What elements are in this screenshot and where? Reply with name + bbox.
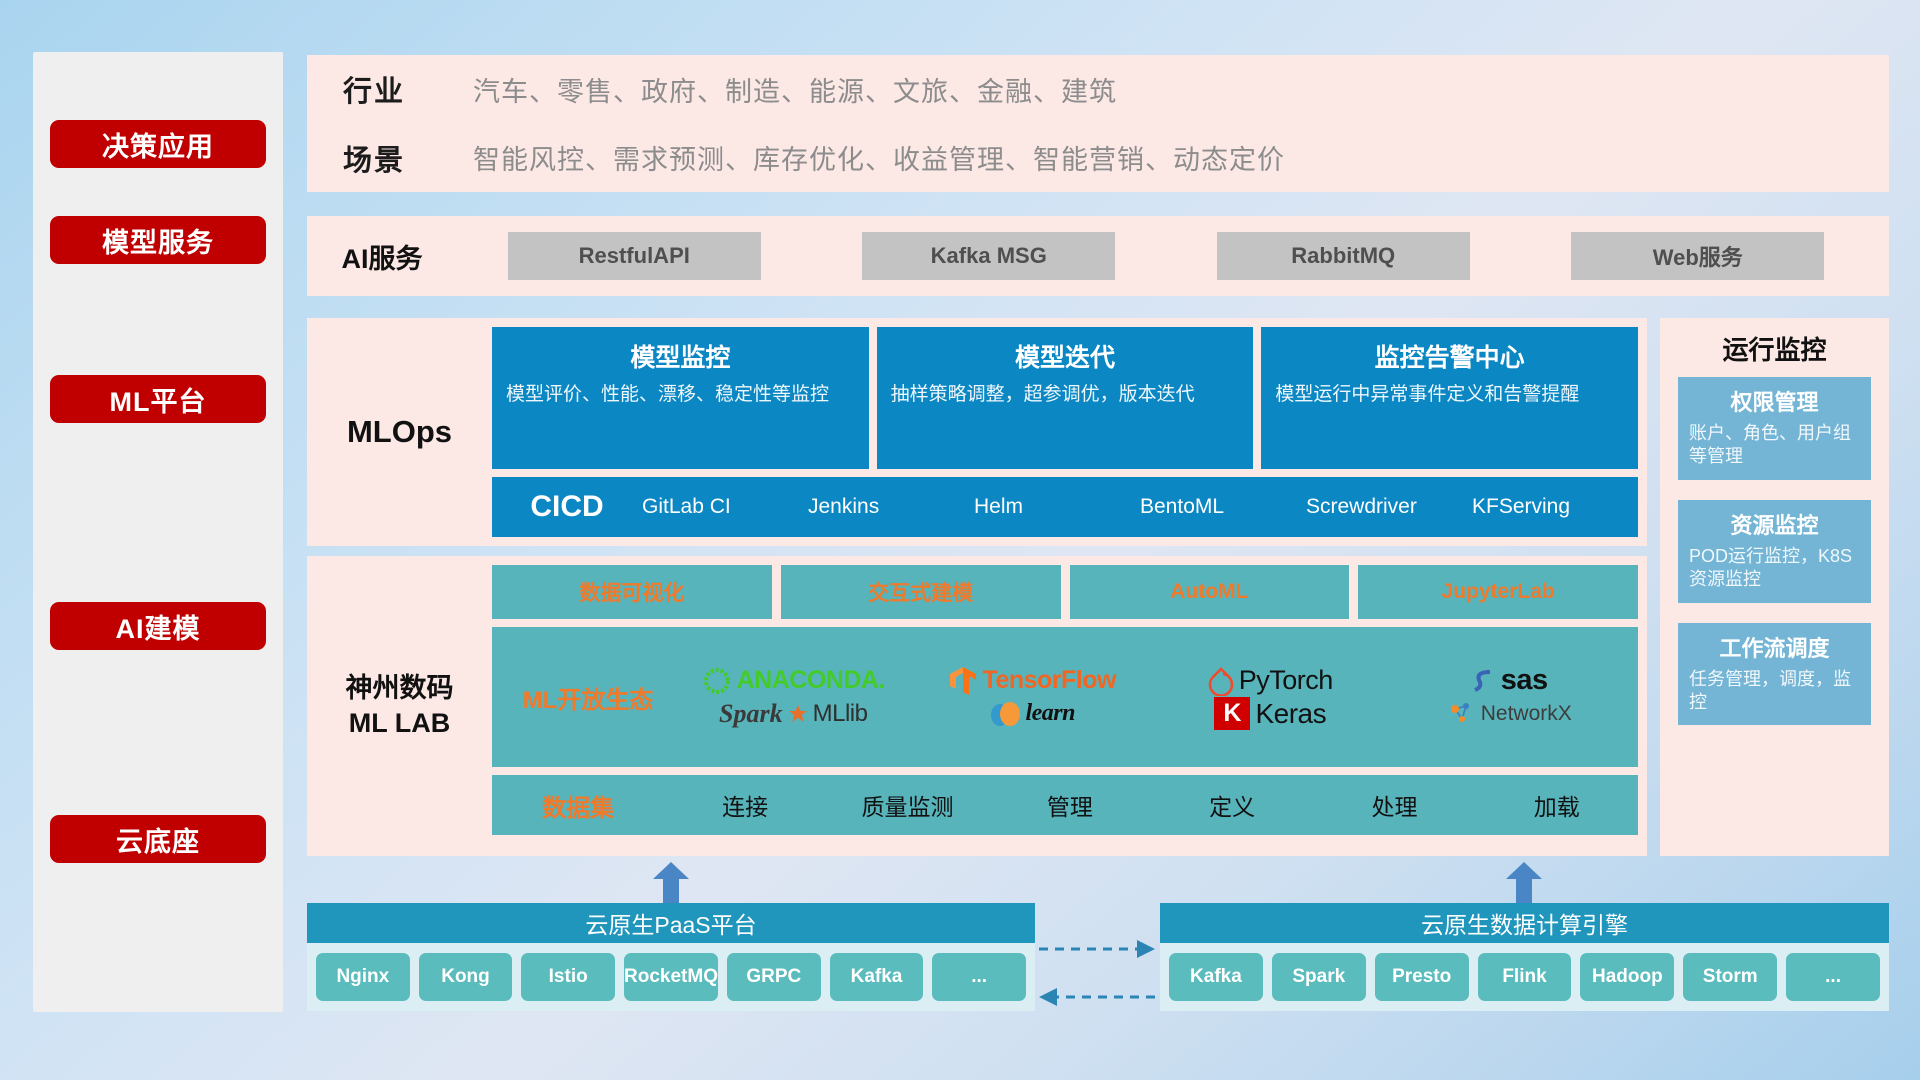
card-desc: 任务管理，调度，监控 xyxy=(1689,668,1860,715)
monitor-card-workflow[interactable]: 工作流调度 任务管理，调度，监控 xyxy=(1678,623,1871,726)
dataset-item-load[interactable]: 加载 xyxy=(1476,788,1638,822)
cicd-bar: CICD GitLab CI Jenkins Helm BentoML Scre… xyxy=(492,477,1638,537)
chip-hadoop[interactable]: Hadoop xyxy=(1580,953,1674,1001)
dataset-label: 数据集 xyxy=(492,788,664,823)
chip-kafka[interactable]: Kafka xyxy=(830,953,924,1001)
mlops-cards: 模型监控 模型评价、性能、漂移、稳定性等监控 模型迭代 抽样策略调整，超参调优，… xyxy=(492,327,1638,469)
card-title: 工作流调度 xyxy=(1689,631,1860,663)
up-arrow-icon-left xyxy=(651,862,691,904)
mlops-label: MLOps xyxy=(307,318,492,546)
cicd-item-gitlab-ci[interactable]: GitLab CI xyxy=(642,496,808,518)
tool-jupyterlab[interactable]: JupyterLab xyxy=(1358,565,1638,619)
ml-ecosystem-row: ML开放生态 ANACONDA. TensorFlow xyxy=(492,627,1638,767)
runtime-monitor-panel: 运行监控 权限管理 账户、角色、用户组等管理 资源监控 POD运行监控，K8S资… xyxy=(1660,318,1889,856)
chip-flink[interactable]: Flink xyxy=(1478,953,1572,1001)
tensorflow-logo: TensorFlow xyxy=(948,665,1116,697)
ml-lab-label-line2: ML LAB xyxy=(349,706,451,741)
cicd-item-screwdriver[interactable]: Screwdriver xyxy=(1306,496,1472,518)
up-arrow-icon-right xyxy=(1504,862,1544,904)
cicd-item-kfserving[interactable]: KFServing xyxy=(1472,496,1638,518)
rail-tag-model-service[interactable]: 模型服务 xyxy=(50,216,266,264)
dataset-item-process[interactable]: 处理 xyxy=(1313,788,1475,822)
chip-kong[interactable]: Kong xyxy=(419,953,513,1001)
cloud-paas-title: 云原生PaaS平台 xyxy=(307,903,1035,943)
dataset-item-connect[interactable]: 连接 xyxy=(664,788,826,822)
sas-logo: sas xyxy=(1470,664,1548,697)
card-title: 权限管理 xyxy=(1689,385,1860,417)
card-desc: 抽样策略调整，超参调优，版本迭代 xyxy=(891,382,1240,407)
cloud-paas-block: 云原生PaaS平台 Nginx Kong Istio RocketMQ GRPC… xyxy=(307,903,1035,1011)
tool-data-visualization[interactable]: 数据可视化 xyxy=(492,565,772,619)
sas-logo-text: sas xyxy=(1501,664,1548,697)
scikit-learn-logo: learn xyxy=(988,699,1075,729)
dataset-item-manage[interactable]: 管理 xyxy=(989,788,1151,822)
tensorflow-logo-text: TensorFlow xyxy=(983,666,1116,695)
chip-kafka[interactable]: Kafka xyxy=(1169,953,1263,1001)
scenario-value: 智能风控、需求预测、库存优化、收益管理、智能营销、动态定价 xyxy=(473,138,1285,177)
ai-service-items: RestfulAPI Kafka MSG RabbitMQ Web服务 xyxy=(457,232,1889,280)
dataset-item-define[interactable]: 定义 xyxy=(1151,788,1313,822)
cloud-paas-chips: Nginx Kong Istio RocketMQ GRPC Kafka ... xyxy=(307,943,1035,1011)
dataset-item-quality[interactable]: 质量监测 xyxy=(826,788,988,822)
spark-mllib-logo: Spark MLlib xyxy=(719,699,867,729)
chip-grpc[interactable]: GRPC xyxy=(727,953,821,1001)
anaconda-logo-text: ANACONDA. xyxy=(737,666,885,695)
mlops-panel: MLOps 模型监控 模型评价、性能、漂移、稳定性等监控 模型迭代 抽样策略调整… xyxy=(307,318,1647,546)
spark-mllib-logo-text: MLlib xyxy=(813,700,868,728)
ai-service-label: AI服务 xyxy=(307,237,457,276)
ai-service-panel: AI服务 RestfulAPI Kafka MSG RabbitMQ Web服务 xyxy=(307,216,1889,296)
pytorch-logo: PyTorch xyxy=(1208,665,1333,696)
chip-storm[interactable]: Storm xyxy=(1683,953,1777,1001)
ai-service-item-kafka-msg[interactable]: Kafka MSG xyxy=(862,232,1115,280)
chip-nginx[interactable]: Nginx xyxy=(316,953,410,1001)
networkx-logo-text: NetworkX xyxy=(1481,703,1572,724)
card-desc: 账户、角色、用户组等管理 xyxy=(1689,422,1860,469)
monitor-card-resources[interactable]: 资源监控 POD运行监控，K8S资源监控 xyxy=(1678,500,1871,603)
rail-tag-cloud-base[interactable]: 云底座 xyxy=(50,815,266,863)
chip-istio[interactable]: Istio xyxy=(521,953,615,1001)
ml-lab-panel: 神州数码 ML LAB 数据可视化 交互式建模 AutoML JupyterLa… xyxy=(307,556,1647,856)
monitor-card-permissions[interactable]: 权限管理 账户、角色、用户组等管理 xyxy=(1678,377,1871,480)
chip-more[interactable]: ... xyxy=(932,953,1026,1001)
mlops-card-alert-center[interactable]: 监控告警中心 模型运行中异常事件定义和告警提醒 xyxy=(1261,327,1638,469)
pytorch-logo-text: PyTorch xyxy=(1239,665,1333,696)
card-title: 监控告警中心 xyxy=(1275,338,1624,374)
keras-logo-text: Keras xyxy=(1255,698,1326,730)
architecture-diagram: 决策应用 模型服务 ML平台 AI建模 云底座 行业 汽车、零售、政府、制造、能… xyxy=(0,0,1920,1080)
industry-row: 行业 汽车、零售、政府、制造、能源、文旅、金融、建筑 xyxy=(307,55,1889,124)
runtime-monitor-title: 运行监控 xyxy=(1660,318,1889,377)
chip-rocketmq[interactable]: RocketMQ xyxy=(624,953,718,1001)
cicd-item-helm[interactable]: Helm xyxy=(974,496,1140,518)
ai-service-item-restfulapi[interactable]: RestfulAPI xyxy=(508,232,761,280)
card-title: 资源监控 xyxy=(1689,508,1860,540)
industry-label: 行业 xyxy=(343,68,473,110)
ml-ecosystem-logos: ANACONDA. TensorFlow xyxy=(674,664,1628,730)
card-title: 模型迭代 xyxy=(891,338,1240,374)
decision-apps-panel: 行业 汽车、零售、政府、制造、能源、文旅、金融、建筑 场景 智能风控、需求预测、… xyxy=(307,55,1889,192)
mlops-card-model-iteration[interactable]: 模型迭代 抽样策略调整，超参调优，版本迭代 xyxy=(877,327,1254,469)
anaconda-logo: ANACONDA. xyxy=(702,666,885,696)
rail-tag-decision-apps[interactable]: 决策应用 xyxy=(50,120,266,168)
ml-ecosystem-label: ML开放生态 xyxy=(502,680,674,715)
cloud-compute-block: 云原生数据计算引擎 Kafka Spark Presto Flink Hadoo… xyxy=(1160,903,1889,1011)
ai-service-item-rabbitmq[interactable]: RabbitMQ xyxy=(1217,232,1470,280)
card-desc: 模型运行中异常事件定义和告警提醒 xyxy=(1275,382,1624,407)
chip-spark[interactable]: Spark xyxy=(1272,953,1366,1001)
keras-logo: K Keras xyxy=(1214,697,1326,730)
dataset-row: 数据集 连接 质量监测 管理 定义 处理 加载 xyxy=(492,775,1638,835)
tool-automl[interactable]: AutoML xyxy=(1070,565,1350,619)
chip-more[interactable]: ... xyxy=(1786,953,1880,1001)
ml-lab-tools: 数据可视化 交互式建模 AutoML JupyterLab xyxy=(492,565,1638,619)
cloud-compute-chips: Kafka Spark Presto Flink Hadoop Storm ..… xyxy=(1160,943,1889,1011)
ai-service-item-web[interactable]: Web服务 xyxy=(1571,232,1824,280)
bidirectional-dashed-arrows-icon xyxy=(1037,935,1157,1015)
tool-interactive-modeling[interactable]: 交互式建模 xyxy=(781,565,1061,619)
card-title: 模型监控 xyxy=(506,338,855,374)
card-desc: 模型评价、性能、漂移、稳定性等监控 xyxy=(506,382,855,407)
chip-presto[interactable]: Presto xyxy=(1375,953,1469,1001)
cicd-item-jenkins[interactable]: Jenkins xyxy=(808,496,974,518)
scenario-label: 场景 xyxy=(343,137,473,179)
cloud-compute-title: 云原生数据计算引擎 xyxy=(1160,903,1889,943)
card-desc: POD运行监控，K8S资源监控 xyxy=(1689,545,1860,592)
left-layer-rail: 决策应用 模型服务 ML平台 AI建模 云底座 xyxy=(33,52,283,1012)
rail-tag-ml-platform[interactable]: ML平台 xyxy=(50,375,266,423)
industry-value: 汽车、零售、政府、制造、能源、文旅、金融、建筑 xyxy=(473,70,1117,109)
ml-lab-label-line1: 神州数码 xyxy=(346,671,454,706)
networkx-logo: NetworkX xyxy=(1446,699,1572,729)
rail-tag-ai-modeling[interactable]: AI建模 xyxy=(50,602,266,650)
scikit-learn-logo-text: learn xyxy=(1025,700,1075,727)
ml-lab-label: 神州数码 ML LAB xyxy=(307,556,492,856)
mlops-card-model-monitoring[interactable]: 模型监控 模型评价、性能、漂移、稳定性等监控 xyxy=(492,327,869,469)
scenario-row: 场景 智能风控、需求预测、库存优化、收益管理、智能营销、动态定价 xyxy=(307,124,1889,193)
cicd-item-bentoml[interactable]: BentoML xyxy=(1140,496,1306,518)
cicd-label: CICD xyxy=(492,490,642,524)
